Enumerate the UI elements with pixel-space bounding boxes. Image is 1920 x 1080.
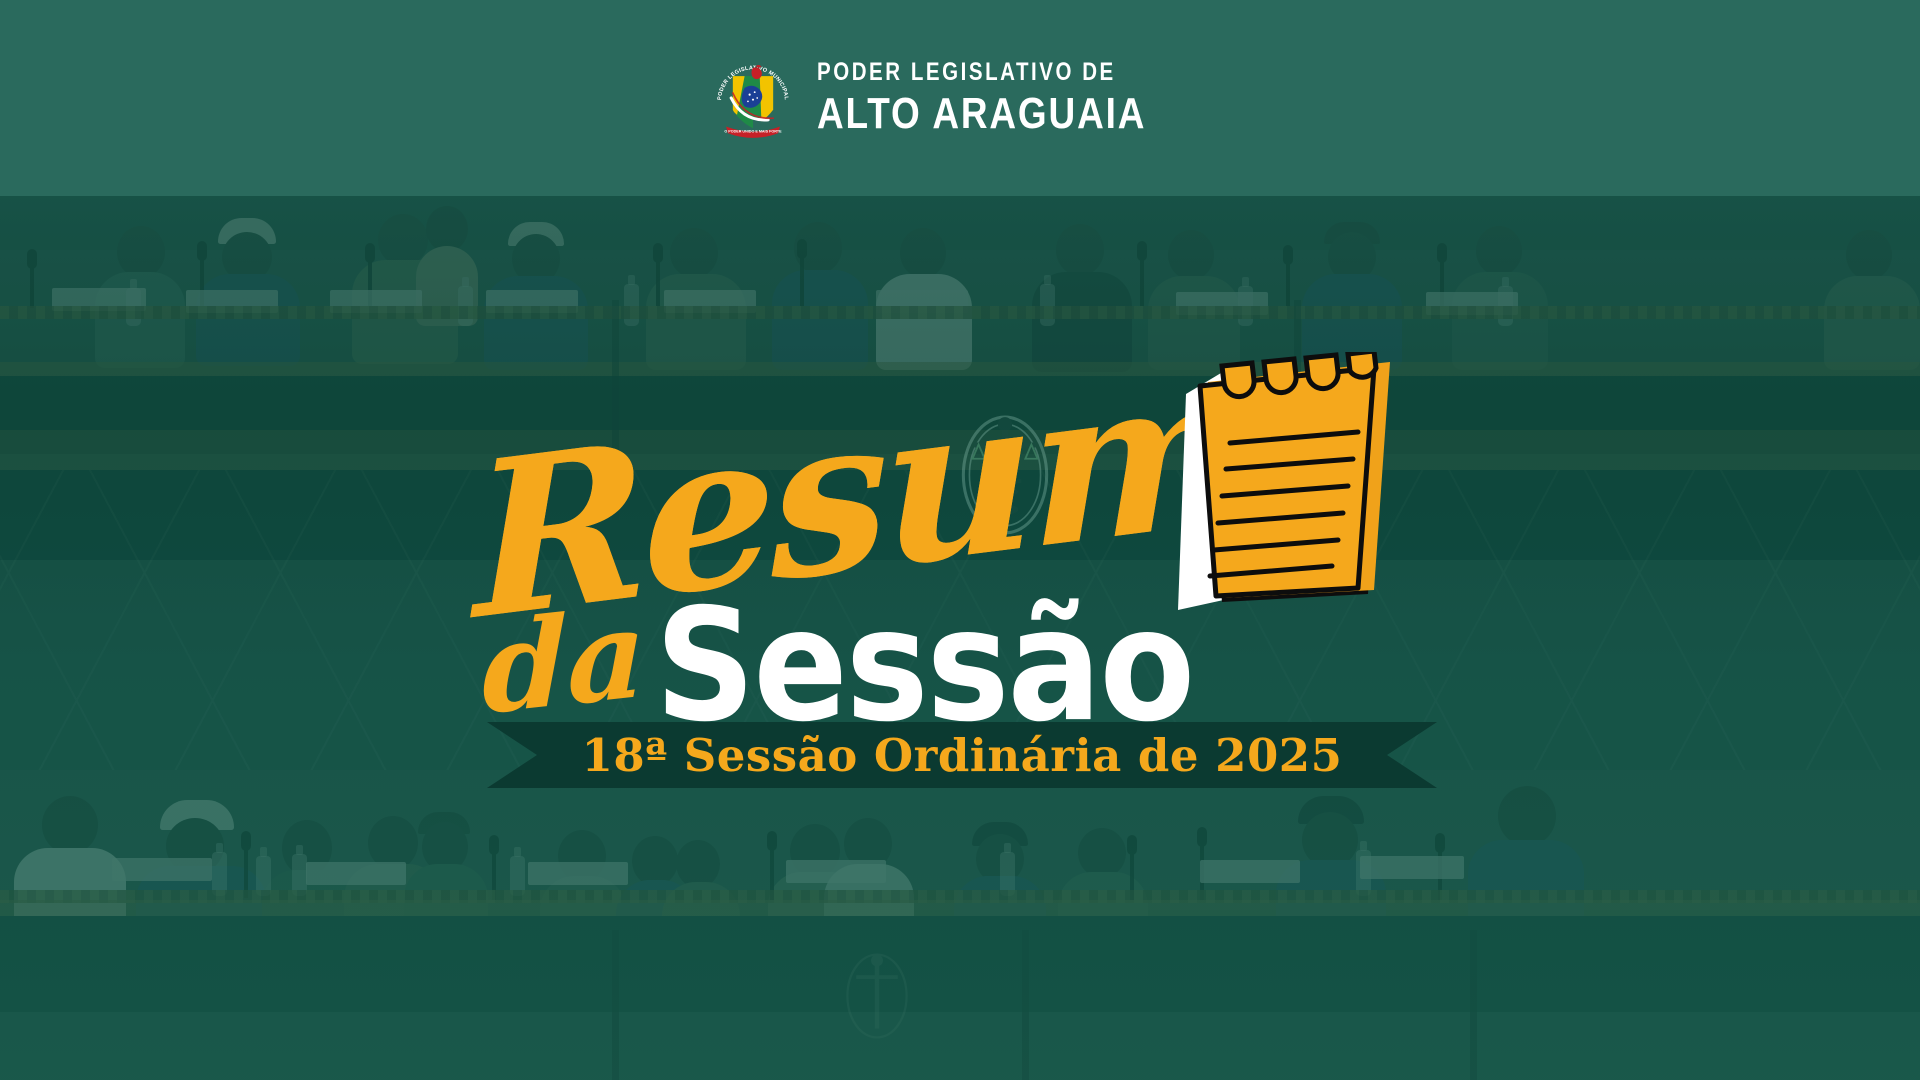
svg-text:O PODER UNIDO E MAIS FORTE: O PODER UNIDO E MAIS FORTE <box>724 129 782 133</box>
coat-of-arms-icon: PODER LEGISLATIVO MUNICIPAL O PODER UNID… <box>711 56 795 140</box>
brand-line-city: ALTO ARAGUAIA <box>817 92 1146 136</box>
brand-line-primary: PODER LEGISLATIVO DE <box>817 60 1138 85</box>
brand-lockup: PODER LEGISLATIVO MUNICIPAL O PODER UNID… <box>0 56 1920 140</box>
poster-canvas: PODER LEGISLATIVO MUNICIPAL O PODER UNID… <box>0 0 1920 1080</box>
session-ribbon-label: 18ª Sessão Ordinária de 2025 <box>487 722 1437 788</box>
chamber-seal-watermark-title <box>952 412 1058 538</box>
brand-text: PODER LEGISLATIVO DE ALTO ARAGUAIA <box>817 60 1209 136</box>
